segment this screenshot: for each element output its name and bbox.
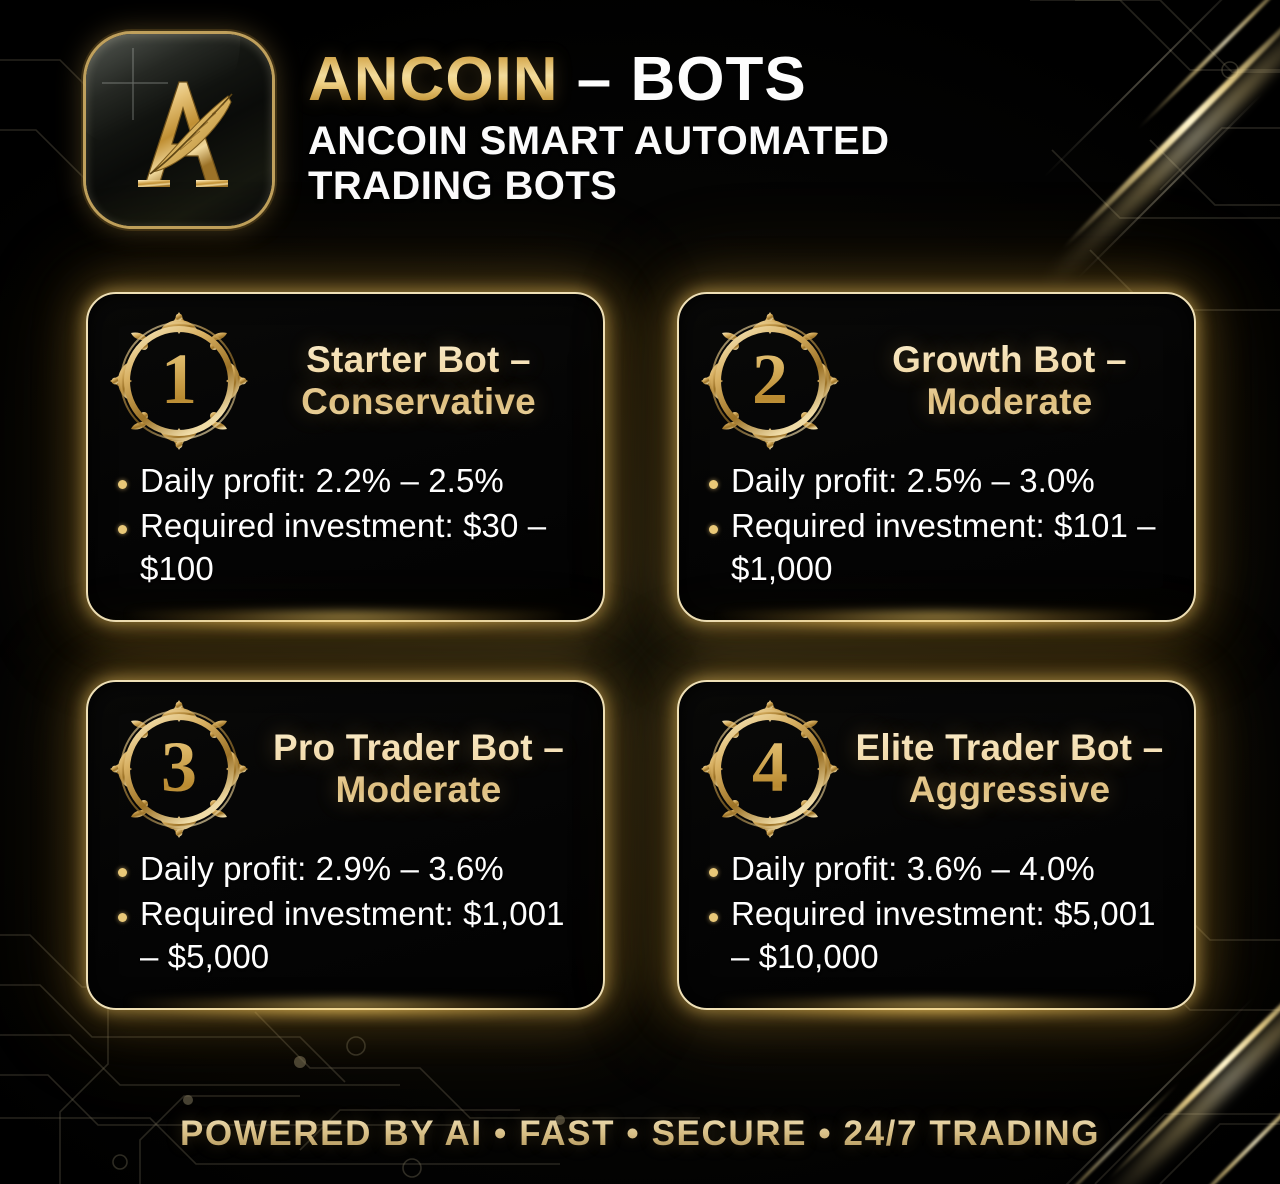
list-item: Daily profit: 2.2% – 2.5% bbox=[118, 460, 581, 503]
bullet-dot-icon bbox=[118, 868, 127, 877]
daily-profit-text: Daily profit: 3.6% – 4.0% bbox=[731, 848, 1095, 891]
card-body: Daily profit: 2.2% – 2.5% Required inves… bbox=[88, 454, 603, 611]
card-title: Elite Trader Bot – Aggressive bbox=[843, 727, 1174, 811]
bot-plan-card[interactable]: 1 Starter Bot – Conservative Daily profi… bbox=[86, 292, 605, 622]
brand-name: ANCOIN bbox=[308, 45, 559, 114]
bullet-dot-icon bbox=[118, 913, 127, 922]
list-item: Required investment: $30 – $100 bbox=[118, 505, 581, 591]
list-item: Required investment: $5,001 – $10,000 bbox=[709, 893, 1172, 979]
bot-plan-card[interactable]: 2 Growth Bot – Moderate Daily profit: 2.… bbox=[677, 292, 1196, 622]
ornate-number-medallion-icon: 1 bbox=[106, 308, 252, 454]
card-number: 4 bbox=[697, 696, 843, 842]
ancoin-logo-badge bbox=[86, 34, 272, 226]
poster-canvas: ANCOIN – BOTS ANCOIN SMART AUTOMATED TRA… bbox=[0, 0, 1280, 1184]
daily-profit-text: Daily profit: 2.5% – 3.0% bbox=[731, 460, 1095, 503]
card-body: Daily profit: 2.9% – 3.6% Required inves… bbox=[88, 842, 603, 999]
brand-dash: – bbox=[559, 45, 631, 114]
list-item: Daily profit: 2.9% – 3.6% bbox=[118, 848, 581, 891]
card-header: 1 Starter Bot – Conservative bbox=[88, 294, 603, 454]
brand-suffix: BOTS bbox=[631, 45, 807, 114]
bullet-dot-icon bbox=[118, 525, 127, 534]
card-number: 2 bbox=[697, 308, 843, 454]
bullet-dot-icon bbox=[118, 480, 127, 489]
bullet-dot-icon bbox=[709, 913, 718, 922]
card-title: Pro Trader Bot – Moderate bbox=[252, 727, 583, 811]
required-investment-text: Required investment: $5,001 – $10,000 bbox=[731, 893, 1172, 979]
bullet-dot-icon bbox=[709, 868, 718, 877]
footer-tagline: POWERED BY AI • FAST • SECURE • 24/7 TRA… bbox=[0, 1114, 1280, 1154]
card-header: 2 Growth Bot – Moderate bbox=[679, 294, 1194, 454]
ornate-number-medallion-icon: 3 bbox=[106, 696, 252, 842]
bullet-dot-icon bbox=[709, 525, 718, 534]
bullet-dot-icon bbox=[709, 480, 718, 489]
bot-plan-card[interactable]: 3 Pro Trader Bot – Moderate Daily profit… bbox=[86, 680, 605, 1010]
subtitle: ANCOIN SMART AUTOMATED TRADING BOTS bbox=[308, 119, 1068, 209]
ornate-number-medallion-icon: 2 bbox=[697, 308, 843, 454]
card-body: Daily profit: 3.6% – 4.0% Required inves… bbox=[679, 842, 1194, 999]
card-body: Daily profit: 2.5% – 3.0% Required inves… bbox=[679, 454, 1194, 611]
card-number: 1 bbox=[106, 308, 252, 454]
card-title: Growth Bot – Moderate bbox=[843, 339, 1174, 423]
card-header: 3 Pro Trader Bot – Moderate bbox=[88, 682, 603, 842]
daily-profit-text: Daily profit: 2.9% – 3.6% bbox=[140, 848, 504, 891]
required-investment-text: Required investment: $101 – $1,000 bbox=[731, 505, 1172, 591]
list-item: Daily profit: 2.5% – 3.0% bbox=[709, 460, 1172, 503]
required-investment-text: Required investment: $1,001 – $5,000 bbox=[140, 893, 581, 979]
ornate-number-medallion-icon: 4 bbox=[697, 696, 843, 842]
list-item: Daily profit: 3.6% – 4.0% bbox=[709, 848, 1172, 891]
list-item: Required investment: $101 – $1,000 bbox=[709, 505, 1172, 591]
card-number: 3 bbox=[106, 696, 252, 842]
required-investment-text: Required investment: $30 – $100 bbox=[140, 505, 581, 591]
header: ANCOIN – BOTS ANCOIN SMART AUTOMATED TRA… bbox=[0, 0, 1280, 262]
title-block: ANCOIN – BOTS ANCOIN SMART AUTOMATED TRA… bbox=[272, 34, 1068, 210]
bot-plan-card[interactable]: 4 Elite Trader Bot – Aggressive Daily pr… bbox=[677, 680, 1196, 1010]
daily-profit-text: Daily profit: 2.2% – 2.5% bbox=[140, 460, 504, 503]
card-title: Starter Bot – Conservative bbox=[252, 339, 583, 423]
brand-title: ANCOIN – BOTS bbox=[308, 48, 1068, 111]
list-item: Required investment: $1,001 – $5,000 bbox=[118, 893, 581, 979]
bot-plan-grid: 1 Starter Bot – Conservative Daily profi… bbox=[86, 292, 1196, 1032]
ancoin-a-quill-icon bbox=[86, 34, 272, 226]
card-header: 4 Elite Trader Bot – Aggressive bbox=[679, 682, 1194, 842]
